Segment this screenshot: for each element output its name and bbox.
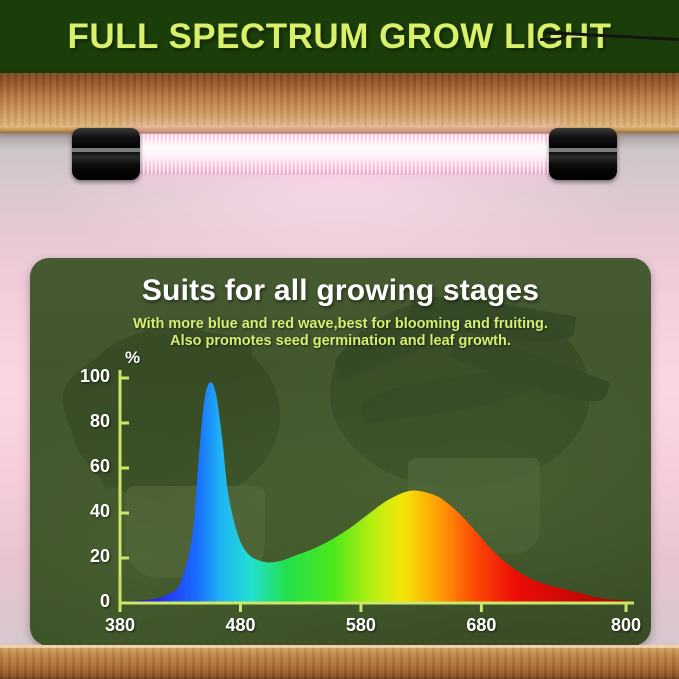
- x-tick-label: 380: [87, 615, 153, 636]
- led-grow-light-bar: [72, 128, 617, 180]
- table-top-highlight: [0, 645, 679, 648]
- banner-title: FULL SPECTRUM GROW LIGHT: [67, 17, 611, 57]
- product-infographic: FULL SPECTRUM GROW LIGHT Suits: [0, 0, 679, 679]
- end-cap-ring: [72, 148, 140, 152]
- y-tick-label: 40: [66, 501, 110, 522]
- header-banner: FULL SPECTRUM GROW LIGHT: [0, 0, 679, 74]
- spectrum-chart: [30, 258, 651, 646]
- spectrum-area: [120, 382, 626, 603]
- x-tick-label: 800: [593, 615, 651, 636]
- x-tick-label: 480: [207, 615, 273, 636]
- x-tick-label: 580: [328, 615, 394, 636]
- led-tube-core: [127, 145, 563, 161]
- end-cap-left-icon: [72, 128, 140, 180]
- y-tick-label: 60: [66, 456, 110, 477]
- y-tick-label: 0: [66, 591, 110, 612]
- y-tick-label: 100: [66, 366, 110, 387]
- y-axis-unit-label: %: [125, 348, 140, 368]
- chart-panel: Suits for all growing stages With more b…: [30, 258, 651, 646]
- spectrum-curve-layer: [120, 382, 626, 603]
- x-tick-label: 680: [448, 615, 514, 636]
- y-tick-label: 80: [66, 411, 110, 432]
- end-cap-right-icon: [549, 128, 617, 180]
- end-cap-ring: [549, 148, 617, 152]
- wooden-table-bottom: [0, 645, 679, 679]
- wooden-shelf-top: [0, 73, 679, 131]
- y-tick-label: 20: [66, 546, 110, 567]
